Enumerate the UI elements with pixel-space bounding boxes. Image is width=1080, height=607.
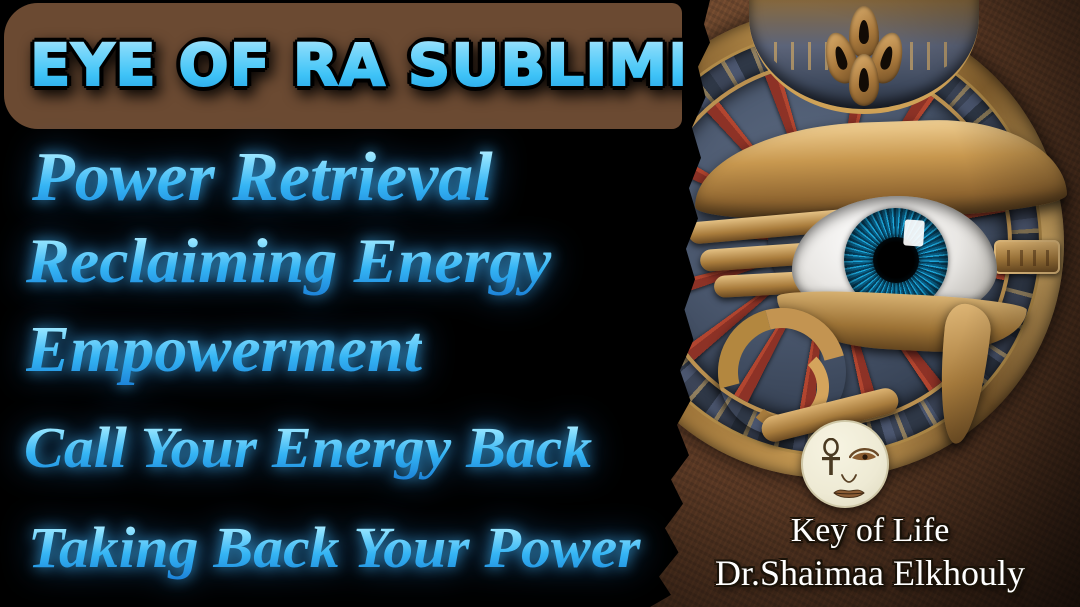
- title-banner: EYE OF RA SUBLIMINAL: [4, 3, 682, 129]
- affirmation-line-5: Taking Back Your Power: [28, 514, 640, 581]
- affirmation-list: Power Retrieval Reclaiming Energy Empowe…: [0, 132, 660, 602]
- crest-teardrops: [818, 6, 910, 106]
- eye-icon: [849, 446, 879, 462]
- affirmation-line-2: Reclaiming Energy: [26, 224, 552, 298]
- page-title: EYE OF RA SUBLIMINAL: [30, 23, 683, 107]
- lips-icon: [833, 488, 865, 499]
- affirmation-line-4: Call Your Energy Back: [24, 414, 592, 481]
- nose-icon: [841, 474, 857, 484]
- ankh-icon: [820, 438, 842, 476]
- brand-block: Key of Life Dr.Shaimaa Elkhouly: [660, 512, 1080, 594]
- eye-highlight: [903, 220, 925, 247]
- affirmation-line-3: Empowerment: [26, 312, 422, 388]
- brand-name: Dr.Shaimaa Elkhouly: [660, 552, 1080, 594]
- thumbnail-canvas: EYE OF RA SUBLIMINAL Power Retrieval Rec…: [0, 0, 1080, 607]
- brand-title: Key of Life: [660, 512, 1080, 550]
- affirmation-line-1: Power Retrieval: [32, 138, 493, 218]
- avatar: [801, 420, 889, 508]
- eye-of-ra-icon: [672, 118, 1072, 448]
